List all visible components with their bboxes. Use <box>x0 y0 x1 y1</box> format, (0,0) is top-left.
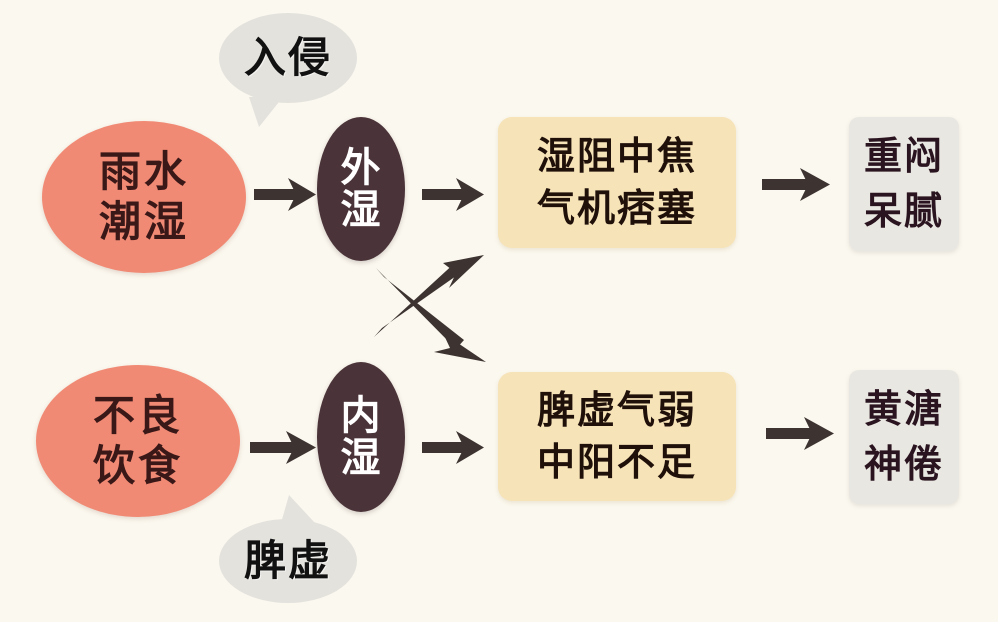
arrow-diet-to-internal <box>250 431 316 464</box>
arrow-cross-up <box>374 255 484 337</box>
diagram-canvas: 入侵 脾虚 雨水 潮湿 不良 饮食 外 湿 内 湿 湿阻中焦 气机痞塞 脾虚气弱… <box>0 0 998 622</box>
arrow-layer <box>0 0 998 622</box>
arrow-rain-to-external <box>254 178 316 211</box>
arrow-cross-down <box>376 268 486 362</box>
arrow-mech-top-to-symptom-top <box>762 168 830 201</box>
arrow-mech-bottom-to-symptom-bottom <box>766 417 834 450</box>
arrow-external-to-mech-top <box>422 178 484 211</box>
arrow-internal-to-mech-bottom <box>422 431 484 464</box>
